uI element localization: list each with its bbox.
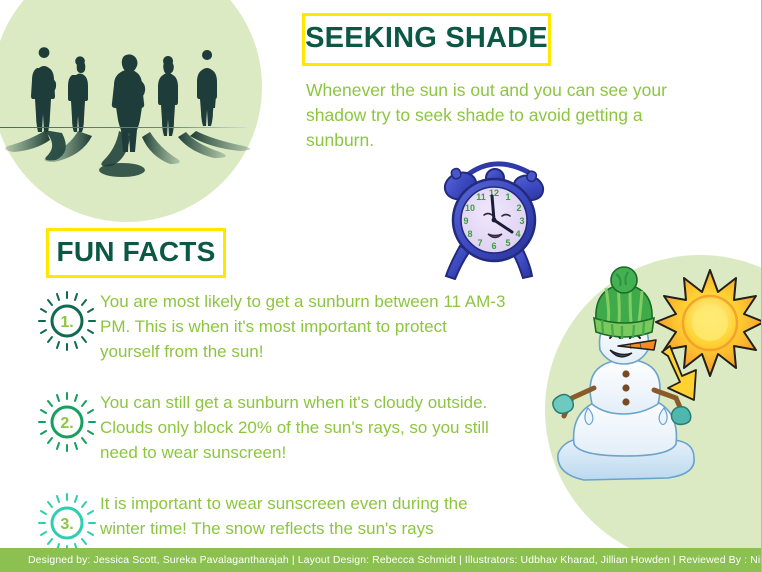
svg-text:9: 9 (463, 216, 468, 226)
fact-item-3: 3. It is important to wear sunscreen eve… (36, 490, 506, 554)
silhouettes-svg (0, 0, 300, 200)
snowman-button (622, 398, 629, 405)
alarm-clock-svg: 12 1 2 3 4 5 6 7 8 9 10 11 (424, 152, 564, 280)
fact-item-2: 2. You can still get a sunburn when it's… (36, 389, 506, 465)
svg-text:5: 5 (505, 238, 510, 248)
fact-text-2: You can still get a sunburn when it's cl… (100, 389, 506, 465)
horizon-line (0, 127, 247, 128)
seeking-shade-heading: SEEKING SHADE (302, 13, 551, 66)
mitten-left (553, 394, 573, 413)
footer-credits: Designed by: Jessica Scott, Sureka Paval… (28, 554, 762, 566)
footer-bar: Designed by: Jessica Scott, Sureka Paval… (0, 548, 762, 572)
svg-text:3: 3 (519, 216, 524, 226)
snowman-beanie (594, 267, 654, 339)
snowman-button (622, 370, 629, 377)
svg-text:11: 11 (476, 192, 486, 202)
snowman-sun-svg (548, 258, 762, 486)
fact-text-1: You are most likely to get a sunburn bet… (100, 288, 506, 364)
snowman-and-sun-illustration (548, 258, 762, 486)
svg-text:7: 7 (477, 238, 482, 248)
fact-number-2: 2. (60, 415, 73, 432)
svg-text:12: 12 (489, 188, 499, 198)
fact-text-3: It is important to wear sunscreen even d… (100, 490, 506, 541)
beanie-pompom (611, 267, 637, 293)
fact-badge-2: 2. (36, 391, 98, 453)
svg-text:8: 8 (467, 229, 472, 239)
svg-text:6: 6 (491, 241, 496, 251)
fact-number-3: 3. (60, 516, 73, 533)
mitten-right (672, 407, 691, 425)
infographic-poster: SEEKING SHADE Whenever the sun is out an… (0, 0, 762, 572)
sunburst-badge-3-svg: 3. (36, 492, 98, 554)
svg-text:4: 4 (515, 229, 520, 239)
fact-item-1: 1. You are most likely to get a sunburn … (36, 288, 506, 364)
fact-badge-3: 3. (36, 492, 98, 554)
fun-facts-list: 1. You are most likely to get a sunburn … (36, 288, 506, 572)
fact-number-1: 1. (60, 314, 73, 331)
svg-text:10: 10 (465, 203, 475, 213)
people-silhouettes-illustration (0, 0, 300, 200)
snowman-button (622, 384, 629, 391)
svg-text:1: 1 (505, 192, 510, 202)
alarm-clock-illustration: 12 1 2 3 4 5 6 7 8 9 10 11 (424, 152, 564, 280)
sunburst-badge-2-svg: 2. (36, 391, 98, 453)
fun-facts-heading: FUN FACTS (46, 228, 226, 278)
sunburst-badge-1-svg: 1. (36, 290, 98, 352)
fact-badge-1: 1. (36, 290, 98, 352)
seeking-shade-body-text: Whenever the sun is out and you can see … (306, 78, 706, 153)
svg-text:2: 2 (516, 203, 521, 213)
